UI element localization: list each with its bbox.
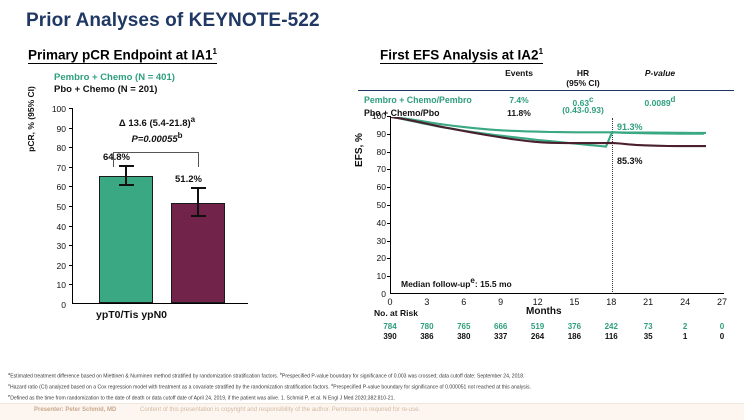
right-panel-title: First EFS Analysis at IA21: [380, 47, 543, 65]
pvalue-sup: d: [671, 95, 676, 104]
pcr-ytick-40: 40: [44, 222, 66, 232]
footnote-1-text: Estimated treatment difference based on …: [10, 374, 279, 380]
page-title: Prior Analyses of KEYNOTE-522: [26, 10, 320, 32]
risk-value-pbo-12: 264: [525, 332, 551, 341]
risk-value-pembro-15: 376: [561, 322, 587, 331]
footnote-line-3: eDefined as the time from randomization …: [8, 392, 736, 403]
km-plot-area: 91.3% 85.3% Median follow-upe: 15.5 mo: [390, 116, 724, 294]
km-annotation-lower: 85.3%: [617, 156, 643, 166]
pcr-category-label: ypT0/Tis ypN0: [96, 309, 167, 321]
hr-sup: c: [589, 95, 593, 104]
col-header-events: Events: [496, 68, 542, 78]
errorbar-pembro-line: [125, 167, 127, 186]
km-ytick-20: 20: [366, 253, 386, 263]
footnote-2b-text: Prespecified P-value boundary for signif…: [333, 385, 531, 391]
bar-value-pembro: 64.8%: [103, 152, 130, 163]
km-y-axis-label: EFS, %: [354, 110, 365, 190]
pcr-ytick-80: 80: [44, 143, 66, 153]
pcr-ytick-10: 10: [44, 280, 66, 290]
risk-value-pbo-6: 380: [451, 332, 477, 341]
risk-value-pbo-0: 390: [377, 332, 403, 341]
risk-value-pbo-27: 0: [709, 332, 735, 341]
pcr-pvalue-sup: b: [178, 131, 183, 140]
table-cell-events-pembro: 7.4%: [496, 95, 542, 105]
risk-value-pembro-12: 519: [525, 322, 551, 331]
table-row-label-pembro: Pembro + Chemo/Pembro: [364, 95, 472, 105]
footnote-line-1: aEstimated treatment difference based on…: [8, 370, 736, 381]
footnote-1b-text: Prespecified P-value boundary for signif…: [282, 374, 525, 380]
km-ytick-70: 70: [366, 164, 386, 174]
table-cell-pvalue-pembro: 0.0089d: [630, 95, 690, 108]
km-curves-svg: [391, 117, 723, 293]
footnote-line-2: cHazard ratio (CI) analyzed based on a C…: [8, 381, 736, 392]
pcr-plot-area: Δ 13.6 (5.4-21.8)a P=0.00055b 64.8% 51.2…: [72, 108, 248, 304]
footer-bar: Presenter: Peter Schmid, MD Content of t…: [0, 403, 744, 420]
pcr-delta-annotation: Δ 13.6 (5.4-21.8)a P=0.00055b: [91, 114, 223, 146]
bar-value-pbo: 51.2%: [175, 174, 202, 185]
pcr-delta-sup: a: [191, 115, 195, 124]
pcr-axis-tick: [69, 147, 73, 148]
km-median-value: : 15.5 mo: [475, 279, 512, 289]
risk-value-pbo-15: 186: [561, 332, 587, 341]
footnote-3-text: Defined as the time from randomization t…: [10, 396, 395, 402]
pcr-axis-tick: [69, 226, 73, 227]
efs-km-chart: EFS, % 100 90 80 70 60 50 40 30 20 10 0: [358, 114, 734, 314]
pcr-axis-tick: [69, 167, 73, 168]
pcr-ytick-60: 60: [44, 182, 66, 192]
pcr-bar-chart: pCR, % (95% CI) 100 90 80 70 60 50 40 30…: [28, 104, 278, 344]
km-xtick-21: 21: [638, 297, 658, 307]
risk-value-pembro-21: 73: [635, 322, 661, 331]
footnote-2-text: Hazard ratio (CI) analyzed based on a Co…: [10, 385, 331, 391]
footer-copyright: Content of this presentation is copyrigh…: [140, 407, 420, 413]
right-panel-efs: First EFS Analysis at IA21 Events HR (95…: [358, 46, 734, 376]
pcr-ytick-50: 50: [44, 202, 66, 212]
no-at-risk-title: No. at Risk: [374, 308, 418, 318]
footnotes: aEstimated treatment difference based on…: [8, 370, 736, 403]
km-ytick-30: 30: [366, 236, 386, 246]
km-ytick-50: 50: [366, 200, 386, 210]
footer-presenter: Presenter: Peter Schmid, MD: [34, 407, 116, 413]
km-x-axis-label: Months: [526, 306, 562, 317]
risk-value-pembro-6: 765: [451, 322, 477, 331]
km-xtick-18: 18: [601, 297, 621, 307]
risk-value-pbo-3: 386: [414, 332, 440, 341]
col-header-hr-line2: (95% CI): [566, 78, 600, 88]
km-xtick-24: 24: [675, 297, 695, 307]
km-xtick-27: 27: [712, 297, 732, 307]
risk-value-pbo-18: 116: [598, 332, 624, 341]
errorbar-pbo-cap-top: [191, 187, 206, 189]
km-median-label: Median follow-up: [401, 279, 470, 289]
km-xtick-0: 0: [380, 297, 400, 307]
errorbar-pbo-cap-bottom: [191, 215, 206, 217]
pcr-y-axis-label: pCR, % (95% CI): [26, 64, 36, 174]
pcr-axis-tick: [69, 265, 73, 266]
col-header-hr: HR (95% CI): [554, 68, 612, 88]
table-rule: [358, 90, 734, 91]
risk-value-pembro-9: 666: [488, 322, 514, 331]
km-ytick-90: 90: [366, 129, 386, 139]
km-ytick-60: 60: [366, 182, 386, 192]
legend-item-pembro: Pembro + Chemo (N = 401): [54, 72, 175, 84]
col-header-hr-line1: HR: [577, 68, 589, 78]
left-legend: Pembro + Chemo (N = 401) Pbo + Chemo (N …: [54, 72, 175, 96]
pcr-ytick-30: 30: [44, 241, 66, 251]
left-panel-pcr: Primary pCR Endpoint at IA11 Pembro + Ch…: [28, 46, 288, 356]
pcr-pvalue-text: P=0.00055: [131, 134, 177, 145]
risk-value-pembro-0: 784: [377, 322, 403, 331]
risk-value-pembro-24: 2: [672, 322, 698, 331]
risk-value-pembro-27: 0: [709, 322, 735, 331]
pcr-axis-tick: [69, 284, 73, 285]
km-ytick-40: 40: [366, 218, 386, 228]
km-xtick-6: 6: [454, 297, 474, 307]
right-panel-title-text: First EFS Analysis at IA2: [380, 47, 539, 62]
left-panel-title: Primary pCR Endpoint at IA11: [28, 47, 217, 65]
pcr-ytick-20: 20: [44, 261, 66, 271]
pvalue-value: 0.0089: [645, 98, 671, 108]
pcr-axis-tick: [69, 128, 73, 129]
left-panel-title-sup: 1: [213, 47, 217, 56]
right-panel-title-sup: 1: [539, 47, 543, 56]
slide: Prior Analyses of KEYNOTE-522 Primary pC…: [0, 0, 744, 420]
risk-value-pbo-21: 35: [635, 332, 661, 341]
km-ytick-80: 80: [366, 147, 386, 157]
pcr-ytick-0: 0: [44, 300, 66, 310]
km-ytick-100: 100: [366, 111, 386, 121]
left-panel-title-text: Primary pCR Endpoint at IA1: [28, 47, 213, 62]
pcr-ytick-90: 90: [44, 124, 66, 134]
bar-pembro-chemo: [99, 176, 153, 303]
risk-value-pembro-18: 242: [598, 322, 624, 331]
pcr-ytick-70: 70: [44, 163, 66, 173]
risk-value-pbo-9: 337: [488, 332, 514, 341]
errorbar-pbo-line: [197, 189, 199, 217]
km-xtick-3: 3: [417, 297, 437, 307]
col-header-pvalue-text: P-value: [645, 68, 675, 78]
bar-pbo-chemo: [171, 203, 225, 303]
km-xtick-15: 15: [564, 297, 584, 307]
pcr-axis-tick: [69, 108, 73, 109]
errorbar-pembro-cap-top: [119, 165, 134, 167]
errorbar-pembro-cap-bottom: [119, 184, 134, 186]
km-curve-pembro-main: [391, 117, 706, 133]
risk-value-pembro-3: 780: [414, 322, 440, 331]
risk-value-pbo-24: 1: [672, 332, 698, 341]
pcr-axis-tick: [69, 206, 73, 207]
pcr-delta-text: Δ 13.6 (5.4-21.8): [119, 118, 191, 129]
km-median-followup: Median follow-upe: 15.5 mo: [399, 276, 514, 289]
pcr-ytick-100: 100: [44, 104, 66, 114]
km-annotation-upper: 91.3%: [617, 122, 643, 132]
pcr-axis-tick: [69, 245, 73, 246]
km-xtick-9: 9: [491, 297, 511, 307]
km-ytick-10: 10: [366, 271, 386, 281]
pcr-axis-tick: [69, 186, 73, 187]
col-header-pvalue: P-value: [630, 68, 690, 78]
legend-item-pbo: Pbo + Chemo (N = 201): [54, 84, 175, 96]
